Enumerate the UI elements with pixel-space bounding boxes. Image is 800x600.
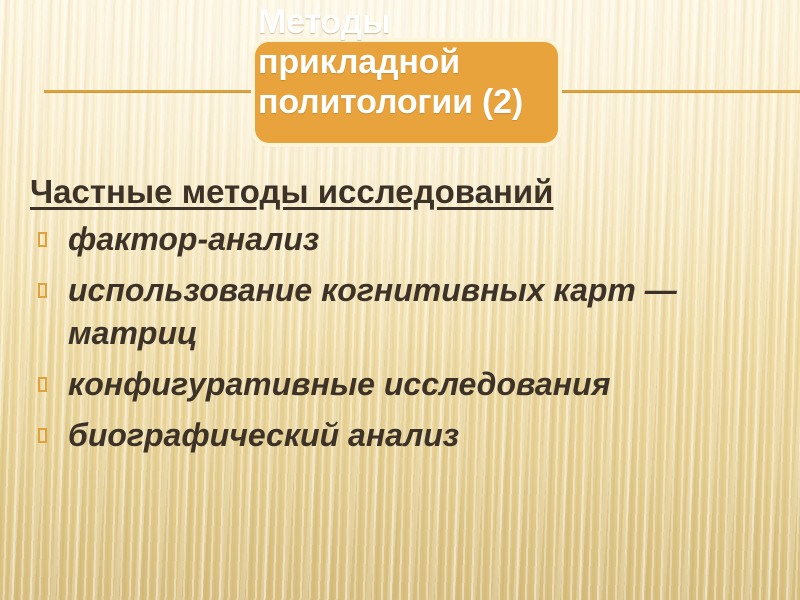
list-item: биографический анализ <box>0 414 800 457</box>
hollow-square-bullet-icon <box>38 377 47 392</box>
list-item-label: фактор-анализ <box>68 221 319 257</box>
list-item-label: биографический анализ <box>68 417 459 453</box>
slide-body: Частные методы исследований фактор-анали… <box>0 172 800 465</box>
list-item: конфигуративные исследования <box>0 363 800 406</box>
list-item: использование когнитивных карт — матриц <box>0 269 800 355</box>
hollow-square-bullet-icon <box>38 283 47 298</box>
body-heading: Частные методы исследований <box>30 172 800 212</box>
list-item: фактор-анализ <box>0 218 800 261</box>
header-divider-rule-left <box>44 90 256 93</box>
slide-title: Методы прикладной политологии (2) <box>258 2 558 122</box>
header-divider-rule-right <box>562 90 800 93</box>
list-item-label: конфигуративные исследования <box>68 366 610 402</box>
bullet-list: фактор-анализ использование когнитивных … <box>0 218 800 457</box>
slide-canvas: Методы прикладной политологии (2) Частны… <box>0 0 800 600</box>
list-item-label: использование когнитивных карт — матриц <box>68 272 677 351</box>
hollow-square-bullet-icon <box>38 232 47 247</box>
hollow-square-bullet-icon <box>38 428 47 443</box>
